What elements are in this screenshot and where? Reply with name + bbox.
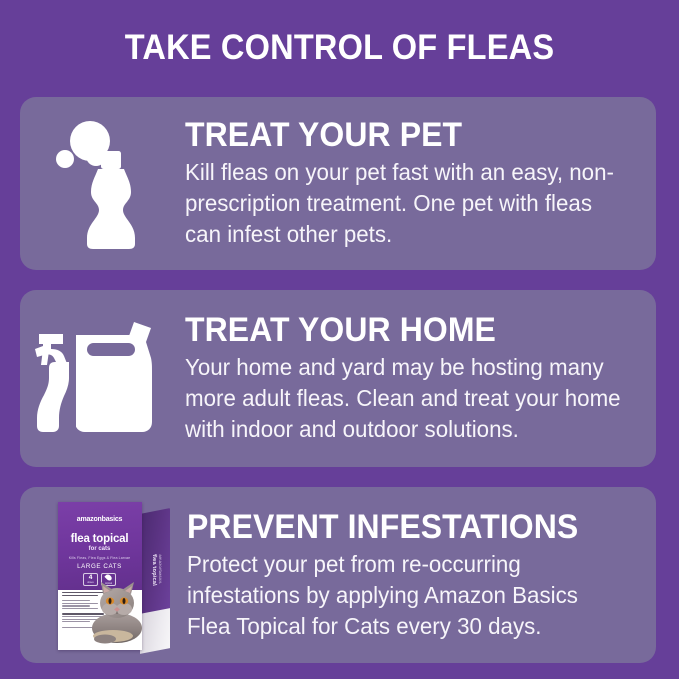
shampoo-bottle-with-bubbles-icon (20, 118, 185, 250)
card-body: TREAT YOUR HOME Your home and yard may b… (185, 312, 656, 445)
page-title: TAKE CONTROL OF FLEAS (24, 28, 655, 68)
product-package-photo: amazonbasics flea topical amazonbasics f… (20, 499, 205, 651)
fine-print-line (62, 605, 90, 606)
card-body: TREAT YOUR PET Kill fleas on your pet fa… (185, 117, 656, 250)
card-treat-your-home: TREAT YOUR HOME Your home and yard may b… (20, 290, 656, 467)
card-heading: TREAT YOUR HOME (185, 312, 616, 348)
package-front-bottom (58, 590, 142, 650)
package-subtitle: for cats (58, 546, 142, 552)
flea-topical-package: amazonbasics flea topical amazonbasics f… (54, 499, 178, 651)
spray-bottle-and-jug-icon (20, 318, 185, 440)
card-treat-your-pet: TREAT YOUR PET Kill fleas on your pet fa… (20, 97, 656, 270)
package-brand-logo: amazonbasics (58, 516, 142, 523)
card-body: PREVENT INFESTATIONS Protect your pet fr… (187, 509, 656, 642)
cat-photo (91, 578, 142, 644)
package-side-brand: amazonbasics (157, 513, 164, 624)
flea-control-infographic: TAKE CONTROL OF FLEAS TREAT YOUR PET Kil… (0, 0, 679, 679)
card-heading: TREAT YOUR PET (185, 117, 616, 153)
fine-print-line (62, 621, 90, 622)
package-side-name: flea topical (150, 515, 157, 626)
fine-print-line (62, 600, 90, 601)
card-text: Your home and yard may be hosting many m… (185, 352, 621, 445)
card-prevent-infestations: amazonbasics flea topical amazonbasics f… (20, 487, 656, 663)
package-product-name: flea topical (58, 533, 142, 545)
package-size-label: LARGE CATS (58, 563, 142, 570)
package-description: Kills Fleas, Flea Eggs & Flea Larvae (58, 556, 142, 560)
card-heading: PREVENT INFESTATIONS (187, 509, 617, 545)
package-front-panel: amazonbasics flea topical for cats Kills… (58, 502, 142, 650)
card-text: Protect your pet from re-occurring infes… (187, 549, 621, 642)
package-side-panel-lower (140, 608, 170, 654)
card-text: Kill fleas on your pet fast with an easy… (185, 157, 621, 250)
